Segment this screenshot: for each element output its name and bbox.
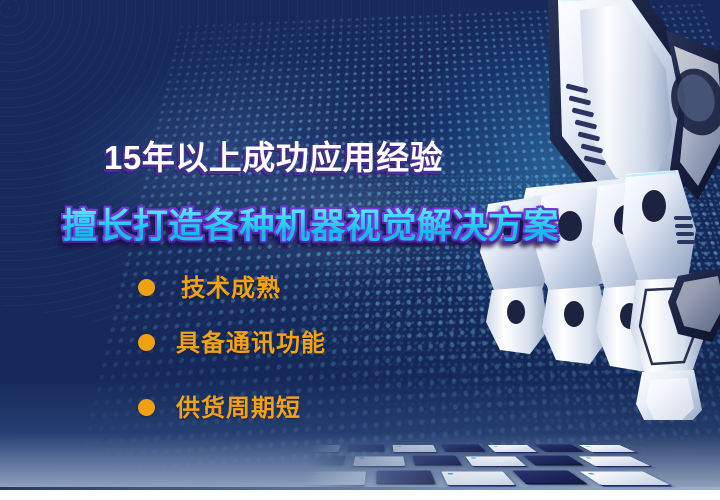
bullet-dot-icon bbox=[138, 279, 155, 296]
list-item-label: 供货周期短 bbox=[176, 388, 301, 423]
list-item: 技术成熟 bbox=[0, 266, 460, 317]
bottom-white-strip bbox=[0, 490, 720, 500]
bullet-dot-icon bbox=[138, 399, 155, 416]
list-item-label: 技术成熟 bbox=[181, 268, 281, 303]
bullet-dot-icon bbox=[138, 334, 155, 351]
list-item: 具备通讯功能 bbox=[0, 317, 460, 368]
subheadline: 擅长打造各种机器视觉解决方案 bbox=[62, 198, 559, 249]
feature-list: 技术成熟 具备通讯功能 供货周期短 bbox=[0, 266, 460, 419]
promo-banner: 15年以上成功应用经验 擅长打造各种机器视觉解决方案 技术成熟 具备通讯功能 供… bbox=[0, 0, 720, 500]
list-item-label: 具备通讯功能 bbox=[176, 323, 326, 358]
list-item: 供货周期短 bbox=[0, 368, 460, 419]
keyboard-keys-icon bbox=[0, 438, 720, 490]
headline: 15年以上成功应用经验 bbox=[104, 131, 443, 179]
